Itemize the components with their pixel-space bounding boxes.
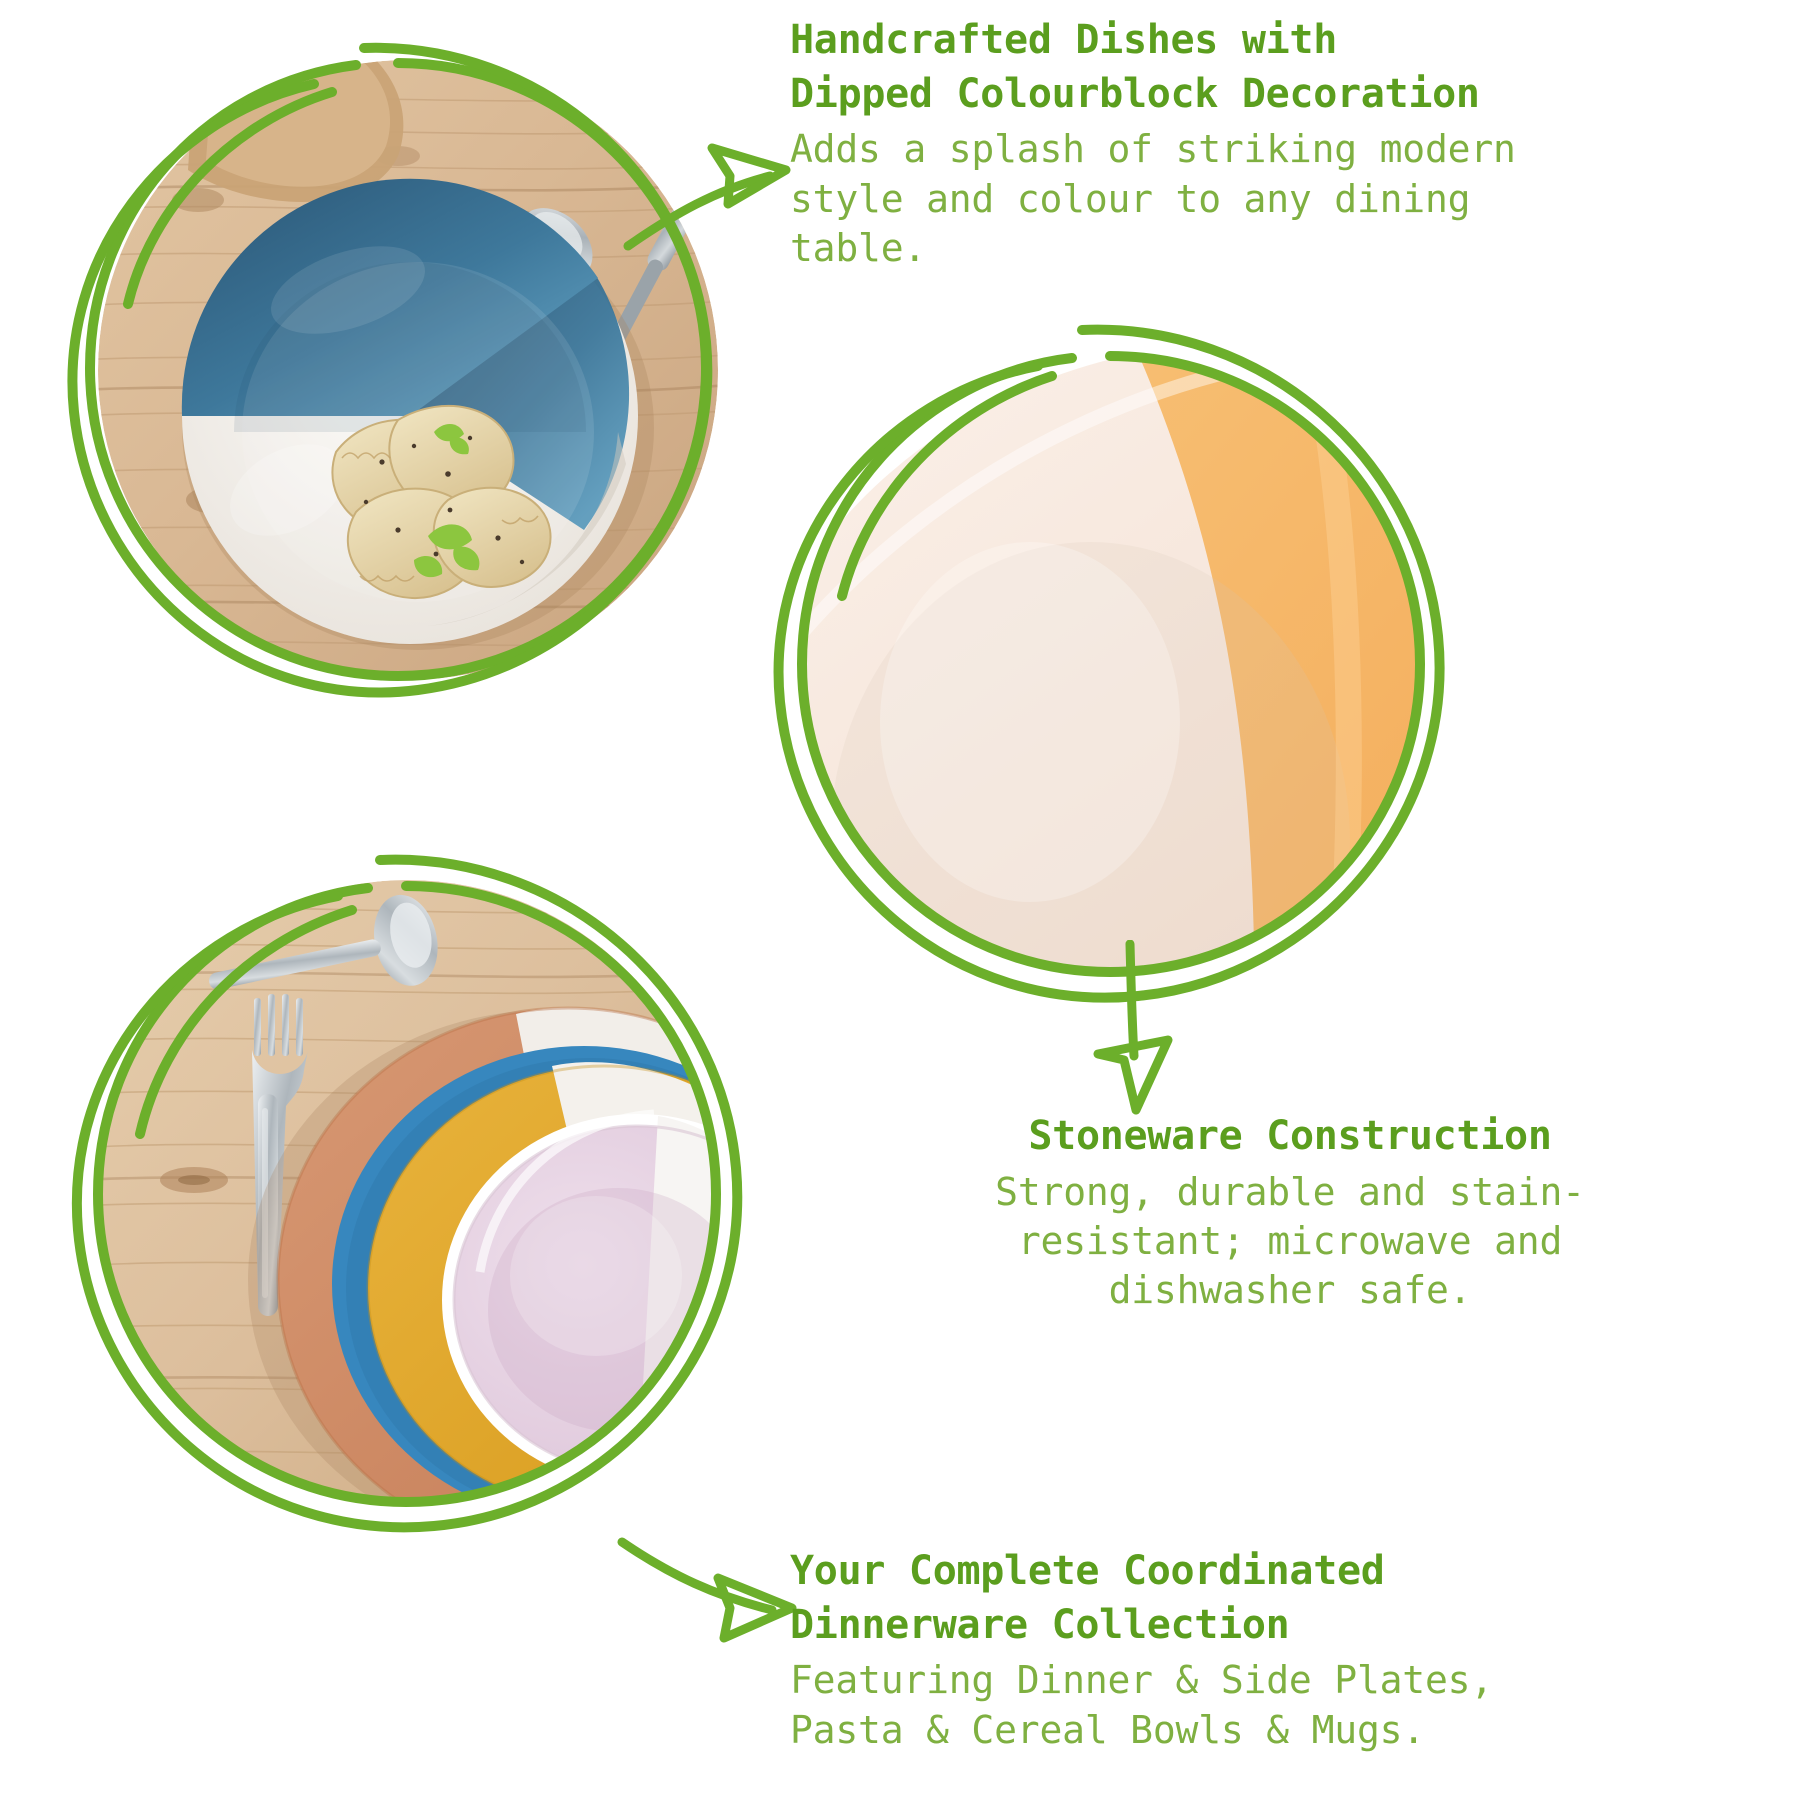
photo-orange-plate-art: [800, 352, 1420, 972]
feature-1-heading-line-1: Handcrafted Dishes with: [790, 14, 1790, 68]
feature-1-heading-line-2: Dipped Colourblock Decoration: [790, 68, 1790, 122]
photo-orange-plate: [800, 352, 1420, 972]
feature-3-text: Your Complete Coordinated Dinnerware Col…: [790, 1545, 1800, 1755]
photo-stacked-set: [98, 880, 718, 1500]
feature-2-body-line-2: resistant; microwave and: [790, 1217, 1790, 1266]
photo-stacked-set-art: [98, 880, 718, 1500]
feature-2-body-line-1: Strong, durable and stain-: [790, 1168, 1790, 1217]
photo-pasta-bowl: [98, 60, 718, 680]
feature-3-heading-line-1: Your Complete Coordinated: [790, 1545, 1800, 1599]
arrow-to-feature-3: [612, 1498, 812, 1648]
infographic-canvas: Handcrafted Dishes with Dipped Colourblo…: [0, 0, 1800, 1800]
feature-3-body-line-1: Featuring Dinner & Side Plates,: [790, 1656, 1800, 1705]
photo-pasta-bowl-art: [98, 60, 718, 680]
feature-1-body-line-1: Adds a splash of striking modern: [790, 125, 1790, 174]
feature-1-body-line-3: table.: [790, 224, 1790, 273]
feature-2-heading-line-1: Stoneware Construction: [790, 1110, 1790, 1164]
feature-3-body-line-2: Pasta & Cereal Bowls & Mugs.: [790, 1706, 1800, 1755]
feature-1-text: Handcrafted Dishes with Dipped Colourblo…: [790, 14, 1790, 273]
feature-1-body-line-2: style and colour to any dining: [790, 175, 1790, 224]
feature-2-body-line-3: dishwasher safe.: [790, 1266, 1790, 1315]
feature-3-heading-line-2: Dinnerware Collection: [790, 1599, 1800, 1653]
feature-2-text: Stoneware Construction Strong, durable a…: [790, 1110, 1790, 1316]
